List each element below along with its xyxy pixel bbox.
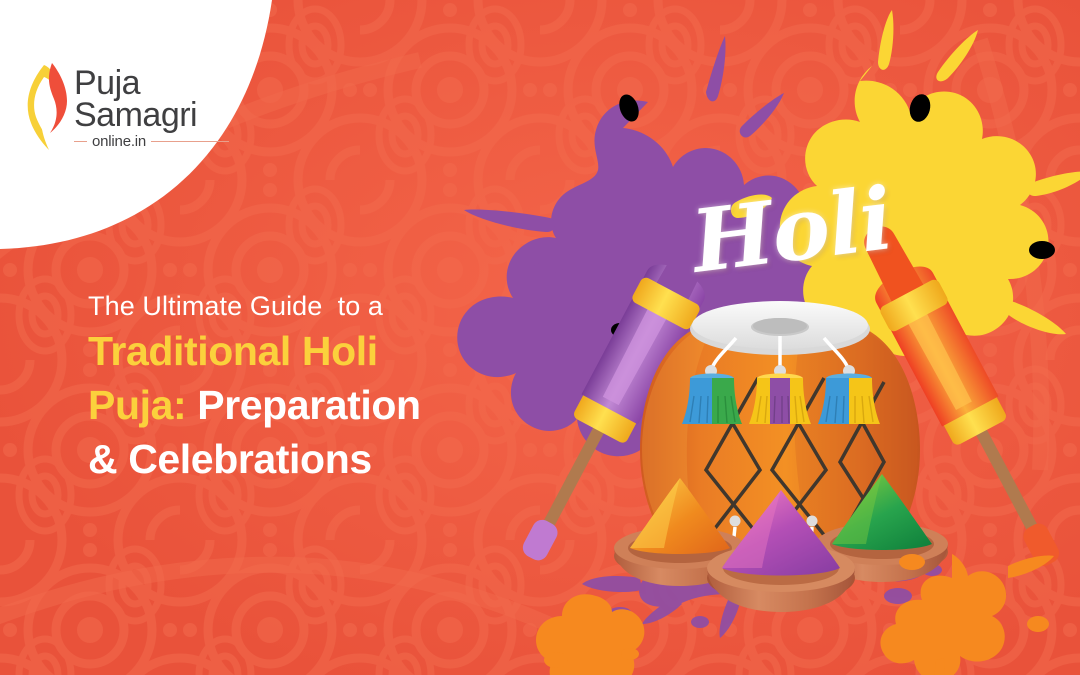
headline-kicker: The Ultimate Guide to a <box>88 288 558 324</box>
logo-rule-left <box>74 141 87 142</box>
logo-word-puja: Puja <box>74 67 229 99</box>
headline-line-2-emphasis: Puja: <box>88 382 186 428</box>
holi-script-word: Holi <box>688 176 897 286</box>
holi-promo-banner: Puja Samagri online.in <box>0 0 1080 675</box>
logo-rule-right <box>151 141 229 142</box>
headline-line-3: & Celebrations <box>88 432 558 486</box>
tassel-center <box>749 374 811 425</box>
logo-text-block: Puja Samagri online.in <box>74 65 229 149</box>
brand-logo[interactable]: Puja Samagri online.in <box>22 52 237 162</box>
tassel-right <box>818 374 880 425</box>
headline-line-2-rest: Preparation <box>186 382 420 428</box>
flame-icon <box>22 63 68 151</box>
tassel-left <box>682 374 742 425</box>
logo-domain-row: online.in <box>74 134 229 149</box>
splash-orange-bottom-left <box>536 594 644 675</box>
headline-line-2: Puja: Preparation <box>88 378 558 432</box>
logo-domain-text: online.in <box>92 134 146 149</box>
headline-line-1: Traditional Holi <box>88 324 558 378</box>
logo-word-samagri: Samagri <box>74 99 229 131</box>
headline-block: The Ultimate Guide to a Traditional Holi… <box>88 288 558 486</box>
